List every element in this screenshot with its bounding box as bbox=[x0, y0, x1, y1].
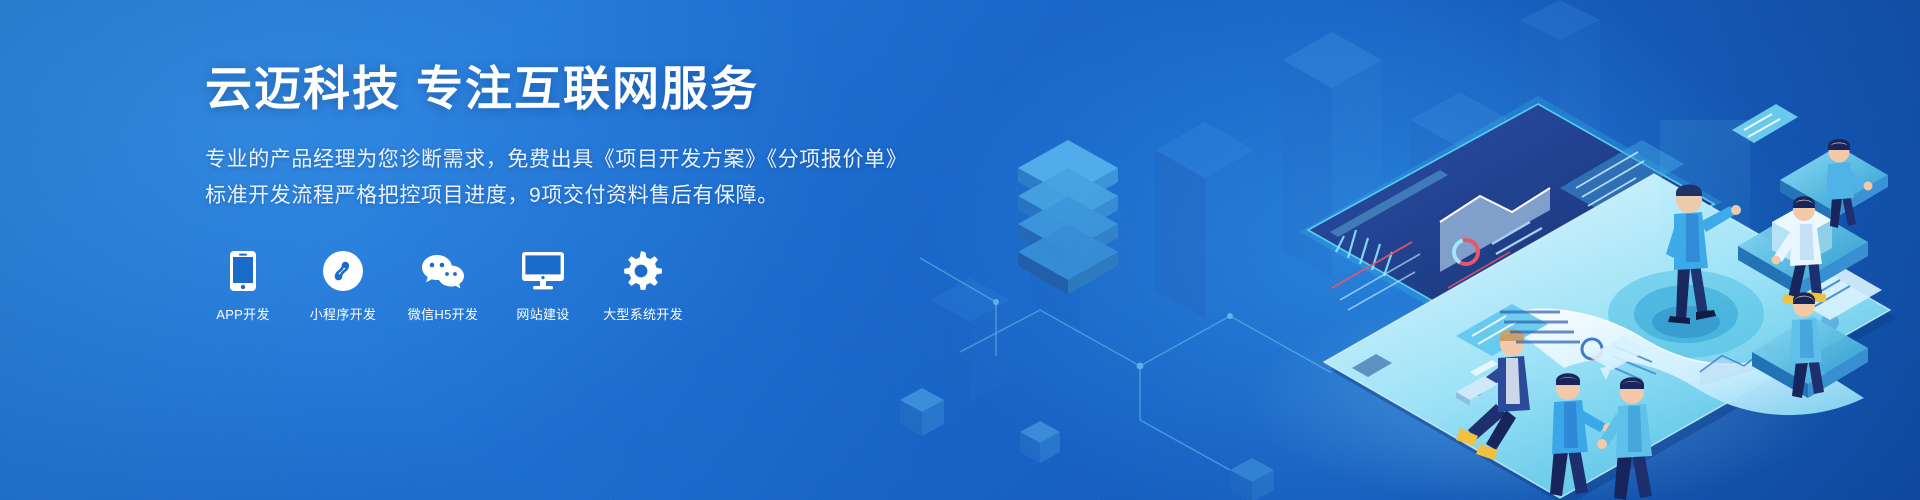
service-label: 网站建设 bbox=[516, 304, 569, 323]
service-item-app[interactable]: APP开发 bbox=[205, 250, 281, 323]
subtitle-line-1: 专业的产品经理为您诊断需求，免费出具《项目开发方案》《分项报价单》 bbox=[205, 142, 925, 178]
monitor-icon bbox=[522, 250, 564, 292]
wechat-icon bbox=[421, 250, 465, 292]
server-stack bbox=[1018, 140, 1118, 294]
service-item-miniprogram[interactable]: 小程序开发 bbox=[305, 250, 381, 323]
person-upper-right bbox=[1826, 139, 1873, 228]
page-title: 云迈科技 专注互联网服务 bbox=[205, 62, 925, 116]
service-list: APP开发 小程序开发 bbox=[205, 250, 925, 323]
service-item-website[interactable]: 网站建设 bbox=[505, 250, 581, 323]
service-item-wechat-h5[interactable]: 微信H5开发 bbox=[405, 250, 481, 323]
service-label: 微信H5开发 bbox=[408, 304, 478, 323]
gear-icon bbox=[623, 250, 663, 292]
floating-cubes bbox=[900, 388, 1274, 500]
service-item-large-system[interactable]: 大型系统开发 bbox=[605, 250, 681, 323]
mobile-phone-icon bbox=[230, 250, 256, 292]
banner-content: 云迈科技 专注互联网服务 专业的产品经理为您诊断需求，免费出具《项目开发方案》《… bbox=[205, 62, 925, 323]
mini-program-icon bbox=[323, 250, 363, 292]
isometric-illustration bbox=[900, 0, 1920, 500]
service-label: 大型系统开发 bbox=[603, 304, 683, 323]
service-label: APP开发 bbox=[216, 304, 270, 323]
subtitle-block: 专业的产品经理为您诊断需求，免费出具《项目开发方案》《分项报价单》 标准开发流程… bbox=[205, 142, 925, 214]
promo-banner: 云迈科技 专注互联网服务 专业的产品经理为您诊断需求，免费出具《项目开发方案》《… bbox=[0, 0, 1920, 500]
subtitle-line-2: 标准开发流程严格把控项目进度，9项交付资料售后有保障。 bbox=[205, 178, 925, 214]
service-label: 小程序开发 bbox=[310, 304, 377, 323]
